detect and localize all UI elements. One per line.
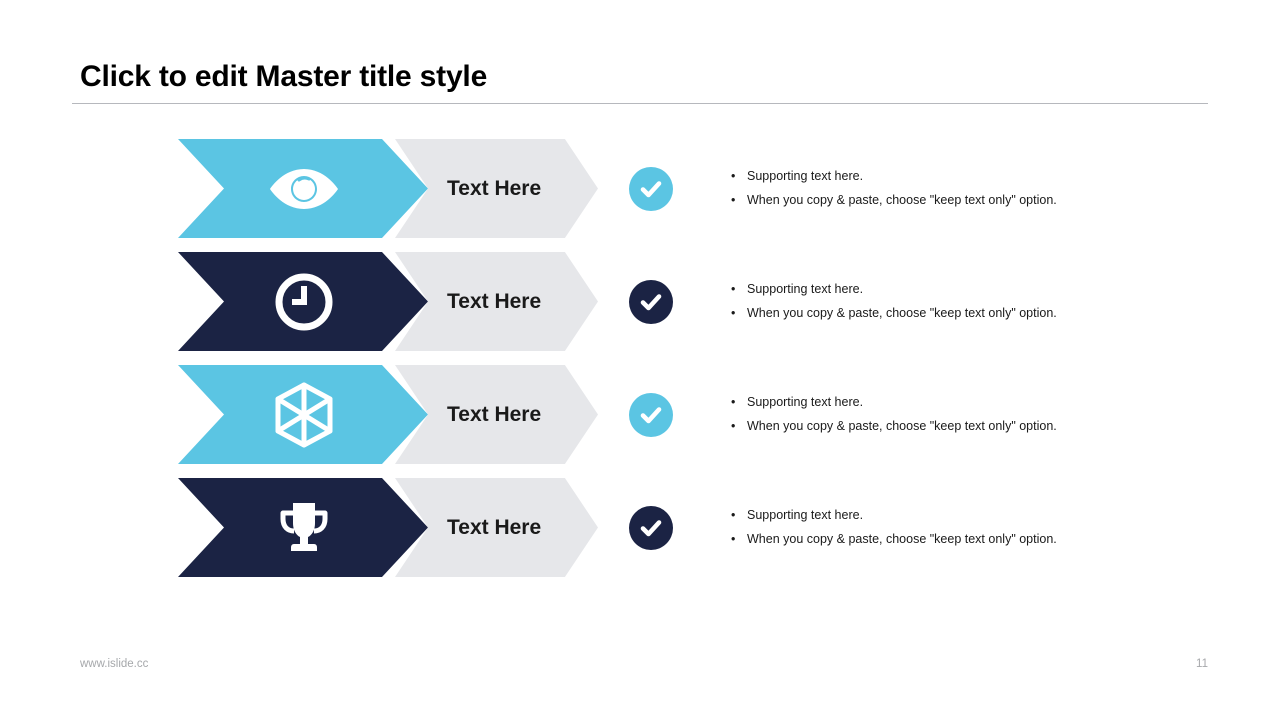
list-item-text: When you copy & paste, choose "keep text…	[747, 527, 1057, 551]
cube-icon	[262, 365, 346, 464]
list-item-text: Supporting text here.	[747, 503, 863, 527]
clock-icon	[262, 252, 346, 351]
bullet-marker: •	[731, 188, 747, 212]
row-notes: • Supporting text here. • When you copy …	[629, 252, 1057, 351]
check-circle-icon	[629, 393, 673, 437]
bullet-marker: •	[731, 164, 747, 188]
bullet-list: • Supporting text here. • When you copy …	[731, 390, 1057, 438]
bullet-marker: •	[731, 277, 747, 301]
footer-url[interactable]: www.islide.cc	[80, 658, 148, 670]
process-row: Text Here • Supporting text here. • When…	[0, 139, 1280, 238]
bullet-marker: •	[731, 527, 747, 551]
chevron-label: Text Here	[447, 252, 541, 351]
list-item: • When you copy & paste, choose "keep te…	[731, 414, 1057, 438]
chevron-label: Text Here	[447, 139, 541, 238]
title-divider	[72, 103, 1208, 104]
list-item: • Supporting text here.	[731, 390, 1057, 414]
bullet-marker: •	[731, 390, 747, 414]
list-item-text: When you copy & paste, choose "keep text…	[747, 301, 1057, 325]
list-item-text: Supporting text here.	[747, 390, 863, 414]
list-item: • Supporting text here.	[731, 277, 1057, 301]
list-item-text: When you copy & paste, choose "keep text…	[747, 414, 1057, 438]
list-item-text: Supporting text here.	[747, 164, 863, 188]
check-circle-icon	[629, 506, 673, 550]
bullet-list: • Supporting text here. • When you copy …	[731, 164, 1057, 212]
bullet-list: • Supporting text here. • When you copy …	[731, 503, 1057, 551]
list-item: • When you copy & paste, choose "keep te…	[731, 188, 1057, 212]
row-notes: • Supporting text here. • When you copy …	[629, 478, 1057, 577]
chevron-label: Text Here	[447, 365, 541, 464]
list-item-text: Supporting text here.	[747, 277, 863, 301]
chevron-label: Text Here	[447, 478, 541, 577]
bullet-list: • Supporting text here. • When you copy …	[731, 277, 1057, 325]
bullet-marker: •	[731, 414, 747, 438]
process-rows: Text Here • Supporting text here. • When…	[0, 139, 1280, 591]
list-item: • When you copy & paste, choose "keep te…	[731, 301, 1057, 325]
list-item: • Supporting text here.	[731, 164, 1057, 188]
process-row: Text Here • Supporting text here. • When…	[0, 365, 1280, 464]
eye-icon	[262, 139, 346, 238]
process-row: Text Here • Supporting text here. • When…	[0, 478, 1280, 577]
page-number: 11	[1196, 658, 1208, 670]
page-title: Click to edit Master title style	[80, 60, 487, 94]
trophy-icon	[262, 478, 346, 577]
check-circle-icon	[629, 167, 673, 211]
list-item: • Supporting text here.	[731, 503, 1057, 527]
list-item: • When you copy & paste, choose "keep te…	[731, 527, 1057, 551]
list-item-text: When you copy & paste, choose "keep text…	[747, 188, 1057, 212]
bullet-marker: •	[731, 503, 747, 527]
bullet-marker: •	[731, 301, 747, 325]
process-row: Text Here • Supporting text here. • When…	[0, 252, 1280, 351]
row-notes: • Supporting text here. • When you copy …	[629, 139, 1057, 238]
check-circle-icon	[629, 280, 673, 324]
row-notes: • Supporting text here. • When you copy …	[629, 365, 1057, 464]
